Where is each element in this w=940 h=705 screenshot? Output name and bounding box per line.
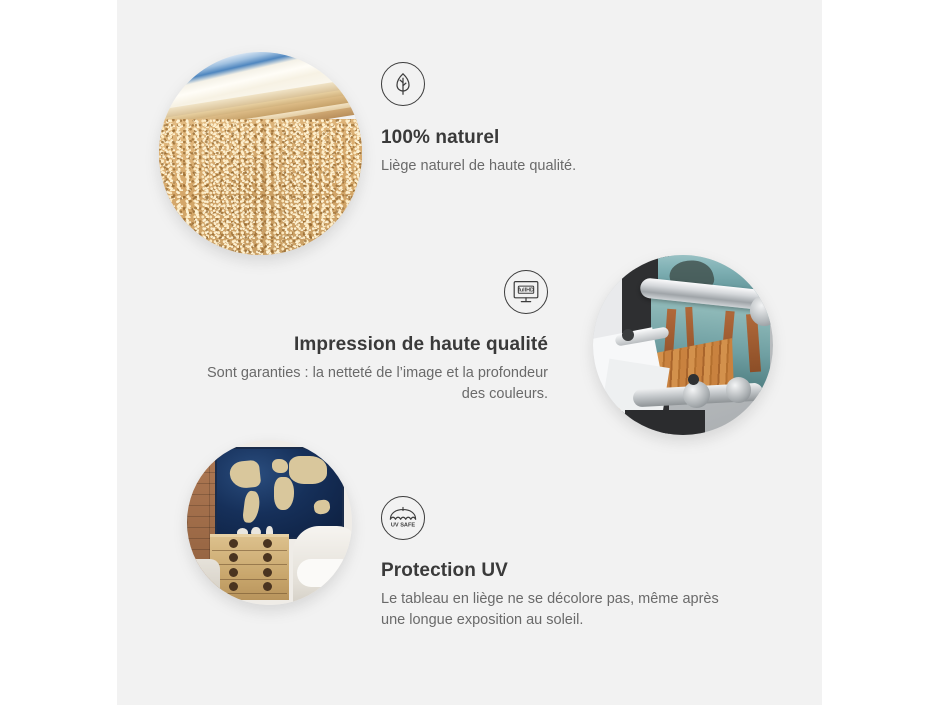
printing-machine-photo <box>593 255 773 435</box>
room-photo-armchair <box>293 526 352 605</box>
feature-title: Protection UV <box>381 560 741 582</box>
fullhd-monitor-icon: fullHD <box>504 270 548 314</box>
feature-description: Sont garanties : la netteté de l’image e… <box>200 363 548 404</box>
feature-infographic: 100% naturel Liège naturel de haute qual… <box>0 0 940 705</box>
leaf-icon <box>381 62 425 106</box>
uv-safe-umbrella-icon: UV SAFE <box>381 496 425 540</box>
feature-uv-protection: UV SAFE Protection UV Le tableau en lièg… <box>381 496 741 630</box>
feature-title: 100% naturel <box>381 127 741 149</box>
room-photo-sofa <box>187 559 220 605</box>
printer-photo-knob <box>726 377 751 402</box>
room-world-map-photo <box>187 440 352 605</box>
map-continent <box>313 499 331 515</box>
dresser-drawer <box>212 553 286 566</box>
uv-safe-label: UV SAFE <box>391 523 416 529</box>
cork-photo-grain <box>159 119 362 255</box>
printer-photo-base <box>625 410 704 435</box>
fullhd-label: fullHD <box>518 288 534 294</box>
map-continent <box>272 459 288 473</box>
cork-texture-photo <box>159 52 362 255</box>
feature-description: Liège naturel de haute qualité. <box>381 156 741 177</box>
map-continent <box>274 477 294 511</box>
feature-title: Impression de haute qualité <box>200 334 548 356</box>
map-continent <box>243 490 262 523</box>
room-photo-dresser <box>210 534 289 600</box>
feature-print-quality: fullHD Impression de haute qualité Sont … <box>200 270 548 404</box>
feature-description: Le tableau en liège ne se décolore pas, … <box>381 589 741 630</box>
dresser-drawer <box>212 538 286 551</box>
dresser-drawer <box>212 567 286 580</box>
map-continent <box>228 459 261 488</box>
map-continent <box>289 456 326 484</box>
printer-photo-knob <box>688 374 699 385</box>
dresser-drawer <box>212 582 286 595</box>
printer-photo-knob <box>683 381 710 408</box>
feature-natural: 100% naturel Liège naturel de haute qual… <box>381 62 741 177</box>
